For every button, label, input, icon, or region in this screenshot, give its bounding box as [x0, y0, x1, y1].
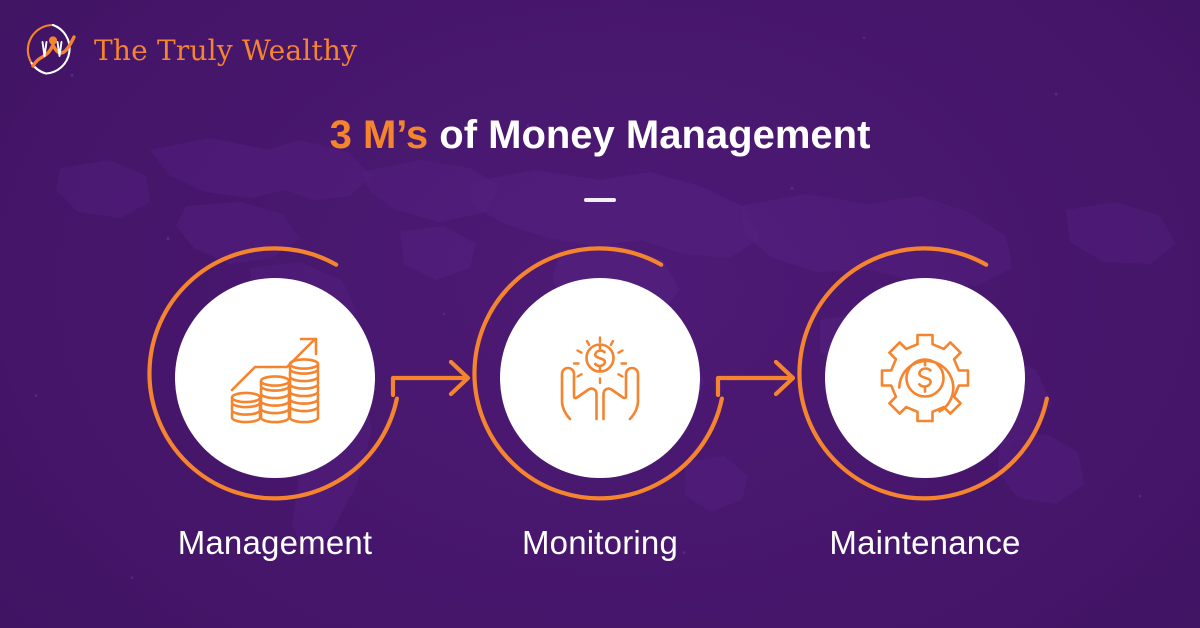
step-management[interactable] — [140, 243, 410, 513]
step-label-maintenance: Maintenance — [760, 524, 1090, 562]
page-title: 3 M’s of Money Management — [0, 115, 1200, 155]
gear-dollar-icon — [875, 328, 975, 428]
coin-stacks-growth-arrow-icon — [225, 328, 325, 428]
page-title-rest: of Money Management — [428, 113, 870, 157]
step-labels-row: Management Monitoring Maintenance — [0, 524, 1200, 584]
steps-row — [0, 243, 1200, 513]
page-title-accent: 3 M’s — [330, 113, 429, 157]
truly-wealthy-monogram-icon — [24, 21, 82, 79]
infographic-canvas: The Truly Wealthy 3 M’s of Money Managem… — [0, 0, 1200, 628]
step-monitoring[interactable] — [465, 243, 735, 513]
brand-logo[interactable]: The Truly Wealthy — [24, 21, 357, 79]
hands-holding-dollar-icon — [550, 328, 650, 428]
step-label-monitoring: Monitoring — [435, 524, 765, 562]
step-maintenance[interactable] — [790, 243, 1060, 513]
brand-name: The Truly Wealthy — [94, 34, 357, 67]
title-divider — [584, 198, 616, 202]
step-label-management: Management — [110, 524, 440, 562]
